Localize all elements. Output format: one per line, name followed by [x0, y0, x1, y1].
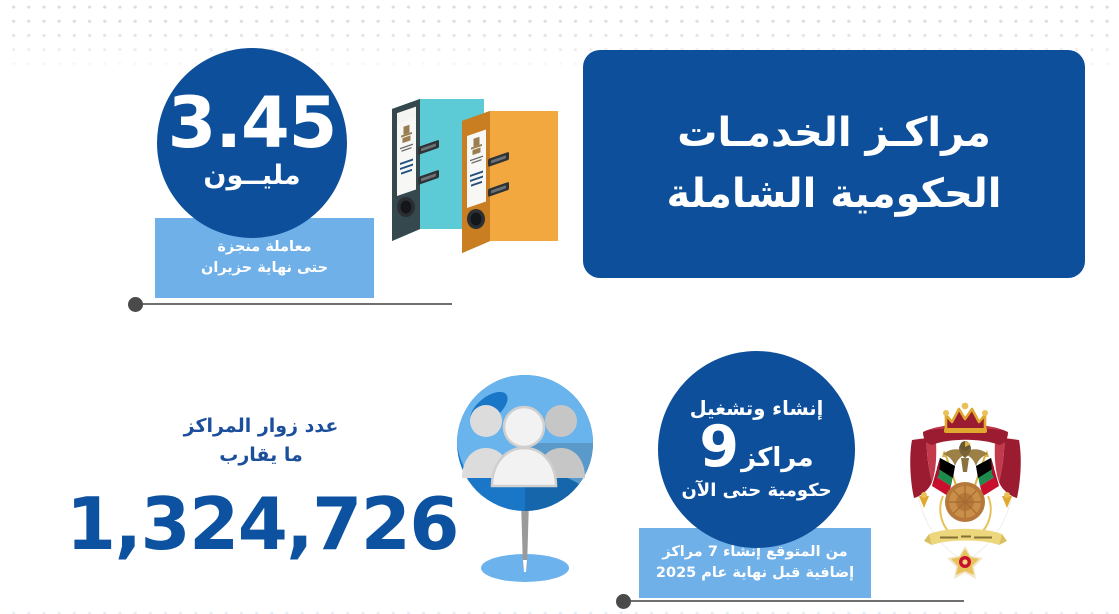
visitors-label: عدد زوار المراكز ما يقارب — [141, 412, 381, 471]
transactions-stat-circle: 3.45 مليــون — [157, 48, 347, 238]
rule-bottom-dot — [616, 594, 631, 609]
transactions-unit: مليــون — [203, 162, 300, 189]
visitors-value: 1,324,726 — [62, 488, 462, 560]
centers-bottom-text: حكومية حتى الآن — [681, 482, 831, 500]
centers-value: 9 — [699, 419, 739, 476]
map-pin-people-icon — [437, 372, 613, 598]
infographic-canvas: معاملة منجزة حتى نهاية حزيران 3.45 مليــ… — [0, 0, 1119, 614]
transactions-value: 3.45 — [168, 91, 337, 157]
title-line-1: مراكـز الخدمـات — [677, 103, 990, 164]
centers-unit: مراكز — [741, 445, 813, 471]
transactions-caption-line2: حتى نهاية حزيران — [201, 258, 328, 279]
rule-bottom — [624, 600, 964, 602]
rule-top — [136, 303, 452, 305]
title-line-2: الحكومية الشاملة — [667, 164, 1002, 225]
visitors-label-line1: عدد زوار المراكز — [141, 412, 381, 441]
visitors-label-line2: ما يقارب — [141, 441, 381, 470]
binders-icon — [380, 85, 570, 260]
centers-caption-line2: إضافية قبل نهاية عام 2025 — [656, 563, 854, 584]
centers-value-row: مراكز 9 — [699, 419, 813, 476]
centers-stat-circle: إنشاء وتشغيل مراكز 9 حكومية حتى الآن — [658, 351, 855, 548]
dot-grid-pattern-bottom — [0, 603, 1119, 614]
page-title: مراكـز الخدمـات الحكومية الشاملة — [583, 50, 1085, 278]
rule-top-dot — [128, 297, 143, 312]
coat-of-arms-of-jordan-icon — [899, 398, 1032, 588]
transactions-caption-line1: معاملة منجزة — [217, 237, 311, 258]
